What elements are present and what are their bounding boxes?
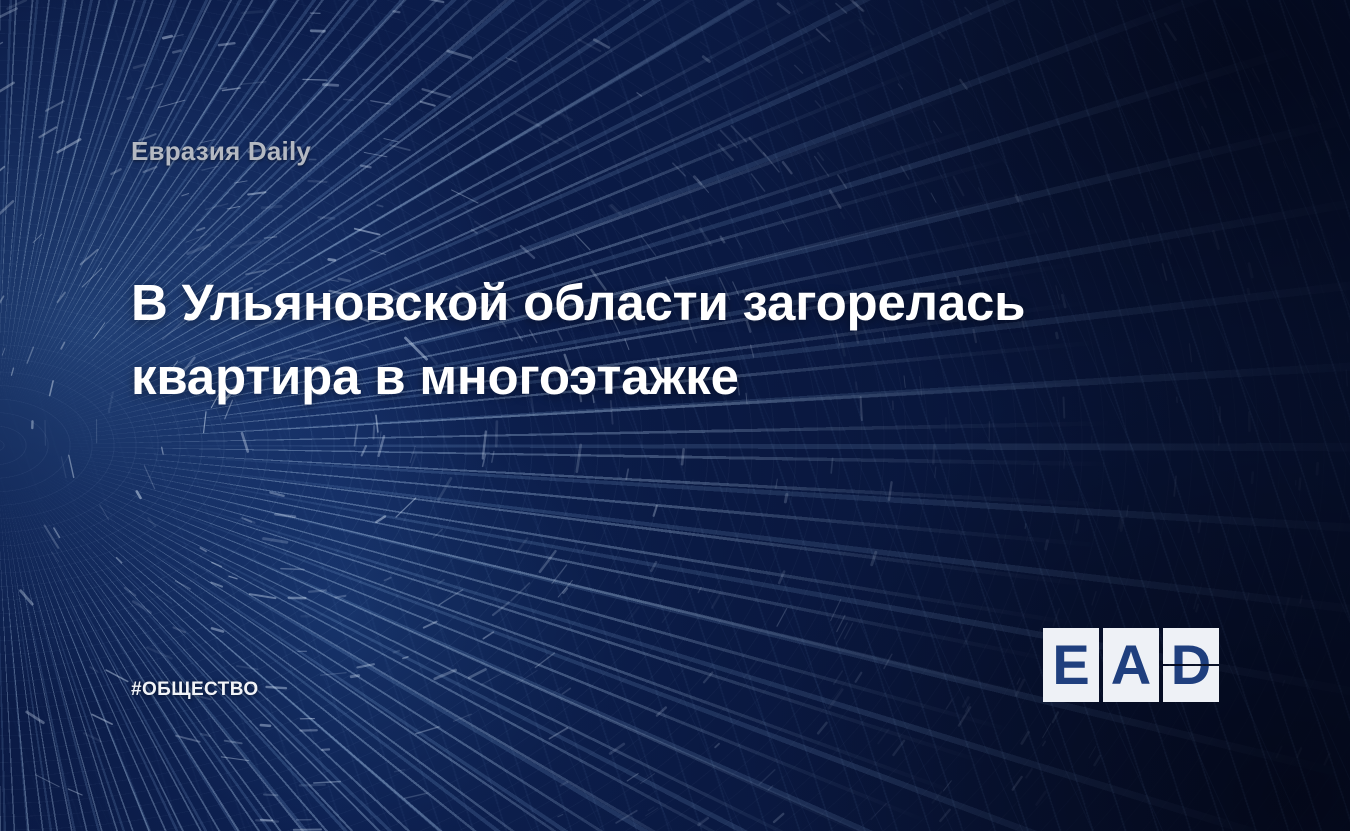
logo-letter-a: A (1103, 628, 1159, 702)
logo-letter-d-bottom: D (1163, 666, 1219, 702)
page-title: В Ульяновской области загорелась квартир… (131, 266, 1131, 414)
brand-name: Евразия Daily (131, 136, 311, 167)
logo-tile-d: D D (1163, 628, 1219, 702)
logo-letter-d-top: D (1163, 628, 1219, 664)
logo-tile-d-bottom: D (1163, 666, 1219, 702)
logo-tile-d-top: D (1163, 628, 1219, 664)
rubric-tag: #ОБЩЕСТВО (131, 679, 259, 701)
ead-logo: E A D D (1043, 628, 1221, 702)
logo-tile-e: E (1043, 628, 1099, 702)
logo-tile-a: A (1103, 628, 1159, 702)
card-content: Евразия Daily В Ульяновской области заго… (0, 0, 1350, 831)
logo-letter-e: E (1043, 628, 1099, 702)
news-card: Евразия Daily В Ульяновской области заго… (0, 0, 1350, 831)
